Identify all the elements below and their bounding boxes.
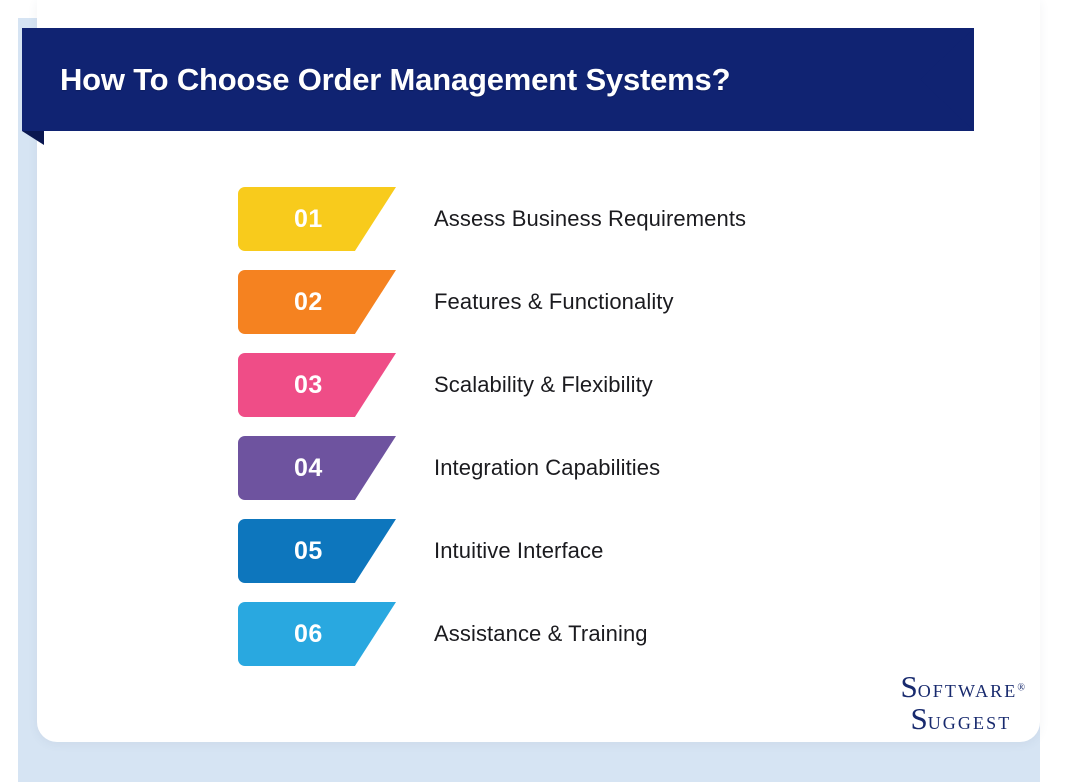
banner-fold-icon <box>22 131 44 145</box>
step-number-tag: 02 <box>238 270 396 334</box>
registered-trademark-icon: ® <box>1017 683 1025 694</box>
step-label: Intuitive Interface <box>434 538 603 564</box>
infographic-page: How To Choose Order Management Systems? … <box>0 0 1083 782</box>
steps-list: 01 Assess Business Requirements 02 Featu… <box>0 187 1083 666</box>
logo-text-oftware: OFTWARE <box>918 681 1018 701</box>
step-number: 01 <box>294 207 323 232</box>
step-number: 03 <box>294 373 323 398</box>
logo-line-suggest: SUGGEST <box>910 703 1025 734</box>
step-label-card[interactable]: Scalability & Flexibility <box>377 353 845 417</box>
step-number-tag: 03 <box>238 353 396 417</box>
logo-capital-s: S <box>900 669 917 704</box>
step-label-card[interactable]: Intuitive Interface <box>377 519 845 583</box>
step-label-card[interactable]: Assess Business Requirements <box>377 187 845 251</box>
step-label: Assistance & Training <box>434 621 648 647</box>
list-item[interactable]: 02 Features & Functionality <box>0 270 1083 334</box>
list-item[interactable]: 05 Intuitive Interface <box>0 519 1083 583</box>
logo-line-software: SOFTWARE® <box>900 671 1025 702</box>
step-label: Assess Business Requirements <box>434 206 746 232</box>
list-item[interactable]: 01 Assess Business Requirements <box>0 187 1083 251</box>
step-label-card[interactable]: Features & Functionality <box>377 270 845 334</box>
list-item[interactable]: 04 Integration Capabilities <box>0 436 1083 500</box>
step-number-tag: 05 <box>238 519 396 583</box>
logo-capital-s2: S <box>910 701 927 736</box>
header-banner-shape <box>22 28 974 145</box>
list-item[interactable]: 03 Scalability & Flexibility <box>0 353 1083 417</box>
step-number-tag: 06 <box>238 602 396 666</box>
step-number: 05 <box>294 539 323 564</box>
step-label: Scalability & Flexibility <box>434 372 653 398</box>
step-number: 02 <box>294 290 323 315</box>
step-label: Integration Capabilities <box>434 455 660 481</box>
step-label: Features & Functionality <box>434 289 674 315</box>
step-label-card[interactable]: Integration Capabilities <box>377 436 845 500</box>
banner-body-fill <box>22 28 974 131</box>
step-number: 04 <box>294 456 323 481</box>
logo-text-uggest: UGGEST <box>928 713 1012 733</box>
list-item[interactable]: 06 Assistance & Training <box>0 602 1083 666</box>
step-number-tag: 04 <box>238 436 396 500</box>
step-label-card[interactable]: Assistance & Training <box>377 602 845 666</box>
header-banner: How To Choose Order Management Systems? <box>22 28 974 131</box>
softwaresuggest-logo[interactable]: SOFTWARE® SUGGEST <box>900 671 1025 734</box>
step-number: 06 <box>294 622 323 647</box>
step-number-tag: 01 <box>238 187 396 251</box>
